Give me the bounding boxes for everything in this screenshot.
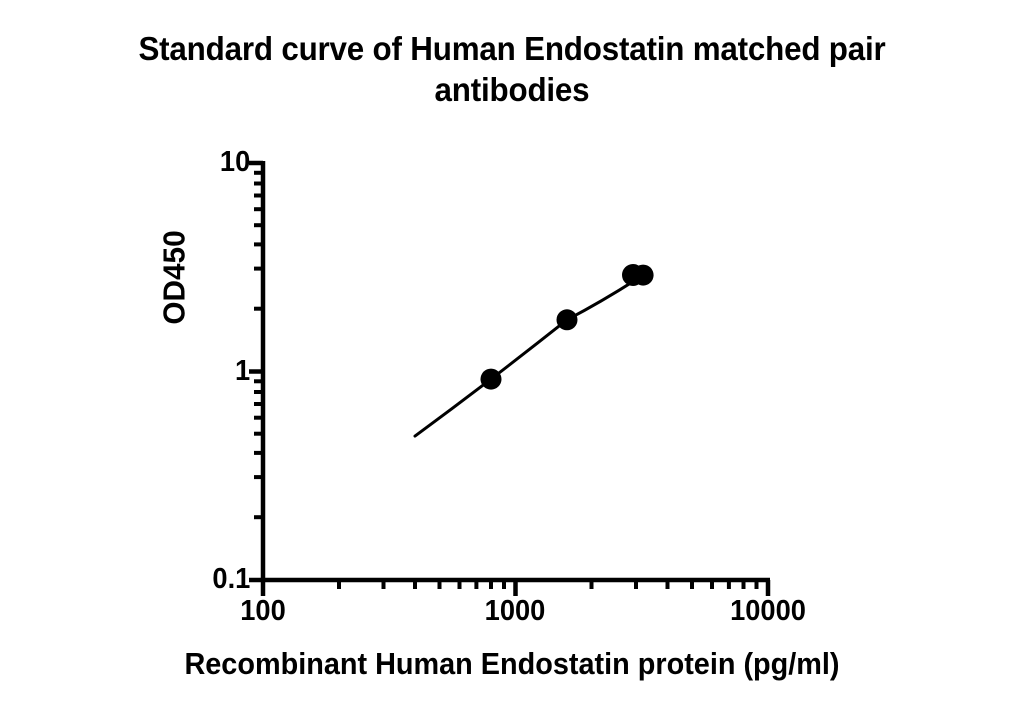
axis-spines [261,161,770,582]
y-axis-title: OD450 [159,105,190,451]
x-axis-title: Recombinant Human Endostatin protein (pg… [36,646,988,682]
x-tick-label-10000: 10000 [693,597,843,626]
chart-figure: Standard curve of Human Endostatin match… [0,0,1024,720]
data-point-4[interactable] [622,264,644,286]
data-point-markers [481,264,654,390]
y-tick-label-0.1: 0.1 [212,565,250,594]
data-point-2[interactable] [557,309,578,330]
y-tick-label-1: 1 [235,357,250,386]
data-point-1[interactable] [481,369,502,390]
x-tick-label-100: 100 [207,597,320,626]
data-series-line [415,275,643,436]
y-tick-label-10: 10 [220,148,250,177]
x-tick-label-1000: 1000 [445,597,586,626]
